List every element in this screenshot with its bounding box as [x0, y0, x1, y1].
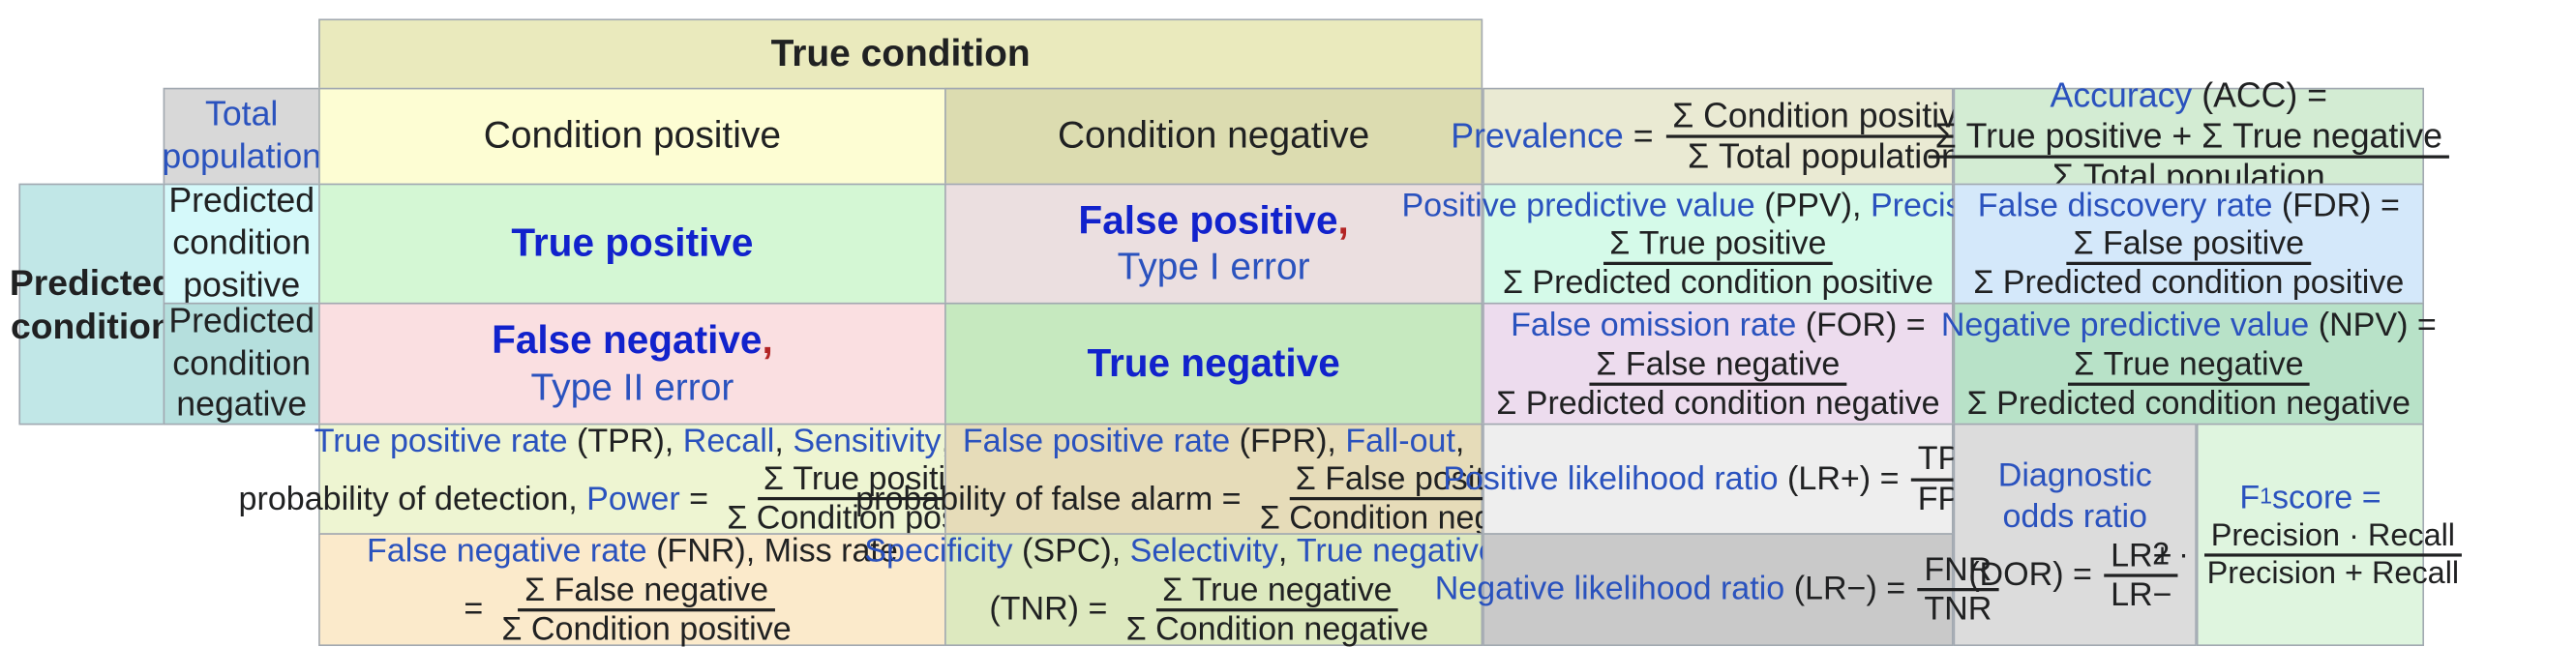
- metric-ppv: Positive predictive value (PPV), Precisi…: [1483, 184, 1953, 305]
- header-predicted-condition-positive: Predicted condition positive: [164, 184, 320, 305]
- header-condition-negative: Condition negative: [944, 88, 1483, 186]
- cell-false-negative: False negative, Type II error: [318, 303, 946, 425]
- metric-for: False omission rate (FOR) = Σ False nega…: [1483, 303, 1953, 425]
- header-total-population: Total population: [164, 88, 320, 186]
- cell-true-negative: True negative: [944, 303, 1483, 425]
- header-predicted-condition: Predicted condition: [18, 184, 165, 426]
- metric-tpr: True positive rate (TPR), Recall, Sensit…: [318, 424, 946, 535]
- confusion-matrix-table: True condition Total population Conditio…: [0, 0, 2424, 646]
- cell-true-positive: True positive: [318, 184, 946, 305]
- f1-score-label: F1 score =: [2239, 479, 2381, 519]
- metric-f1-score: F1 score = 2 · Precision · Recall Precis…: [2197, 424, 2424, 646]
- metric-spc: Specificity (SPC), Selectivity, True neg…: [944, 533, 1483, 646]
- header-true-condition: True condition: [318, 18, 1483, 89]
- metric-lr-plus: Positive likelihood ratio (LR+) = TPR FP…: [1483, 424, 1953, 535]
- header-predicted-condition-negative: Predicted condition negative: [164, 303, 320, 425]
- metric-npv: Negative predictive value (NPV) = Σ True…: [1954, 303, 2424, 425]
- comma: ,: [762, 317, 772, 365]
- metric-lr-minus: Negative likelihood ratio (LR−) = FNR TN…: [1483, 533, 1953, 646]
- header-condition-positive: Condition positive: [318, 88, 946, 186]
- comma: ,: [1338, 197, 1349, 245]
- metric-prevalence: Prevalence = Σ Condition positive Σ Tota…: [1483, 88, 1953, 186]
- metric-fnr: False negative rate (FNR), Miss rate = Σ…: [318, 533, 946, 646]
- metric-accuracy: Accuracy (ACC) = Σ True positive + Σ Tru…: [1954, 88, 2424, 186]
- metric-fpr: False positive rate (FPR), Fall-out, pro…: [944, 424, 1483, 535]
- metric-fdr: False discovery rate (FDR) = Σ False pos…: [1954, 184, 2424, 305]
